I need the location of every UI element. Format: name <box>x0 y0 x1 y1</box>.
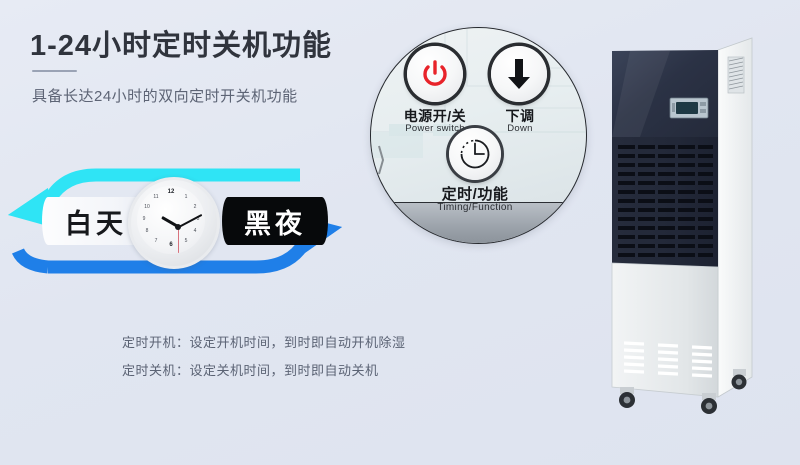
lcd-screen <box>676 102 698 114</box>
timing-button-label-en: Timing/Function <box>419 202 531 213</box>
product-feature-page: 1-24小时定时关机功能 具备长达24小时的双向定时开关机功能 白天 黑夜 12… <box>0 0 800 465</box>
timing-function-button[interactable] <box>449 128 501 180</box>
clock-center-pin <box>175 224 181 230</box>
dehumidifier-product-image <box>600 25 790 440</box>
clock-numeral: 7 <box>151 238 161 244</box>
clock-numeral: 11 <box>151 194 161 200</box>
page-subtitle: 具备长达24小时的双向定时开关机功能 <box>32 85 298 106</box>
power-button[interactable] <box>407 46 463 102</box>
clock-second-hand <box>178 227 179 253</box>
control-panel-magnifier: 电源开/关 Power switch 下调 Down 定时/功能 Timing/… <box>370 27 587 244</box>
clock-numeral: 9 <box>139 216 149 222</box>
title-divider <box>32 70 77 72</box>
clock-face: 12 1 2 3 4 5 6 7 8 9 10 11 <box>137 186 205 254</box>
clock-numeral: 10 <box>142 204 152 210</box>
clock-numeral: 5 <box>181 238 191 244</box>
clock-numeral: 8 <box>142 228 152 234</box>
description-line-1: 定时开机：设定开机时间，到时即自动开机除湿 <box>122 332 406 351</box>
clock-numeral: 1 <box>181 194 191 200</box>
clock-numeral: 2 <box>190 204 200 210</box>
lcd-control-a <box>700 102 706 106</box>
clock-numeral: 12 <box>166 189 176 195</box>
dehumidifier-illustration <box>600 25 790 440</box>
down-arrow-icon <box>504 57 534 91</box>
day-night-cycle-graphic: 白天 黑夜 12 1 2 3 4 5 6 7 8 9 10 11 <box>0 155 350 290</box>
power-icon <box>420 59 450 89</box>
lcd-control-b <box>700 109 706 113</box>
lcd-side-button <box>672 103 675 112</box>
page-title: 1-24小时定时关机功能 <box>30 22 332 64</box>
down-button-label-en: Down <box>481 123 559 134</box>
timing-button-label-cn: 定时/功能 <box>419 183 531 204</box>
analog-clock: 12 1 2 3 4 5 6 7 8 9 10 11 <box>128 177 220 269</box>
clock-numeral: 4 <box>190 228 200 234</box>
description-line-2: 定时关机：设定关机时间，到时即自动关机 <box>122 360 379 379</box>
clock-icon <box>458 137 492 171</box>
clock-numeral: 6 <box>166 242 176 248</box>
night-label: 黑夜 <box>222 197 328 245</box>
down-button[interactable] <box>491 46 547 102</box>
